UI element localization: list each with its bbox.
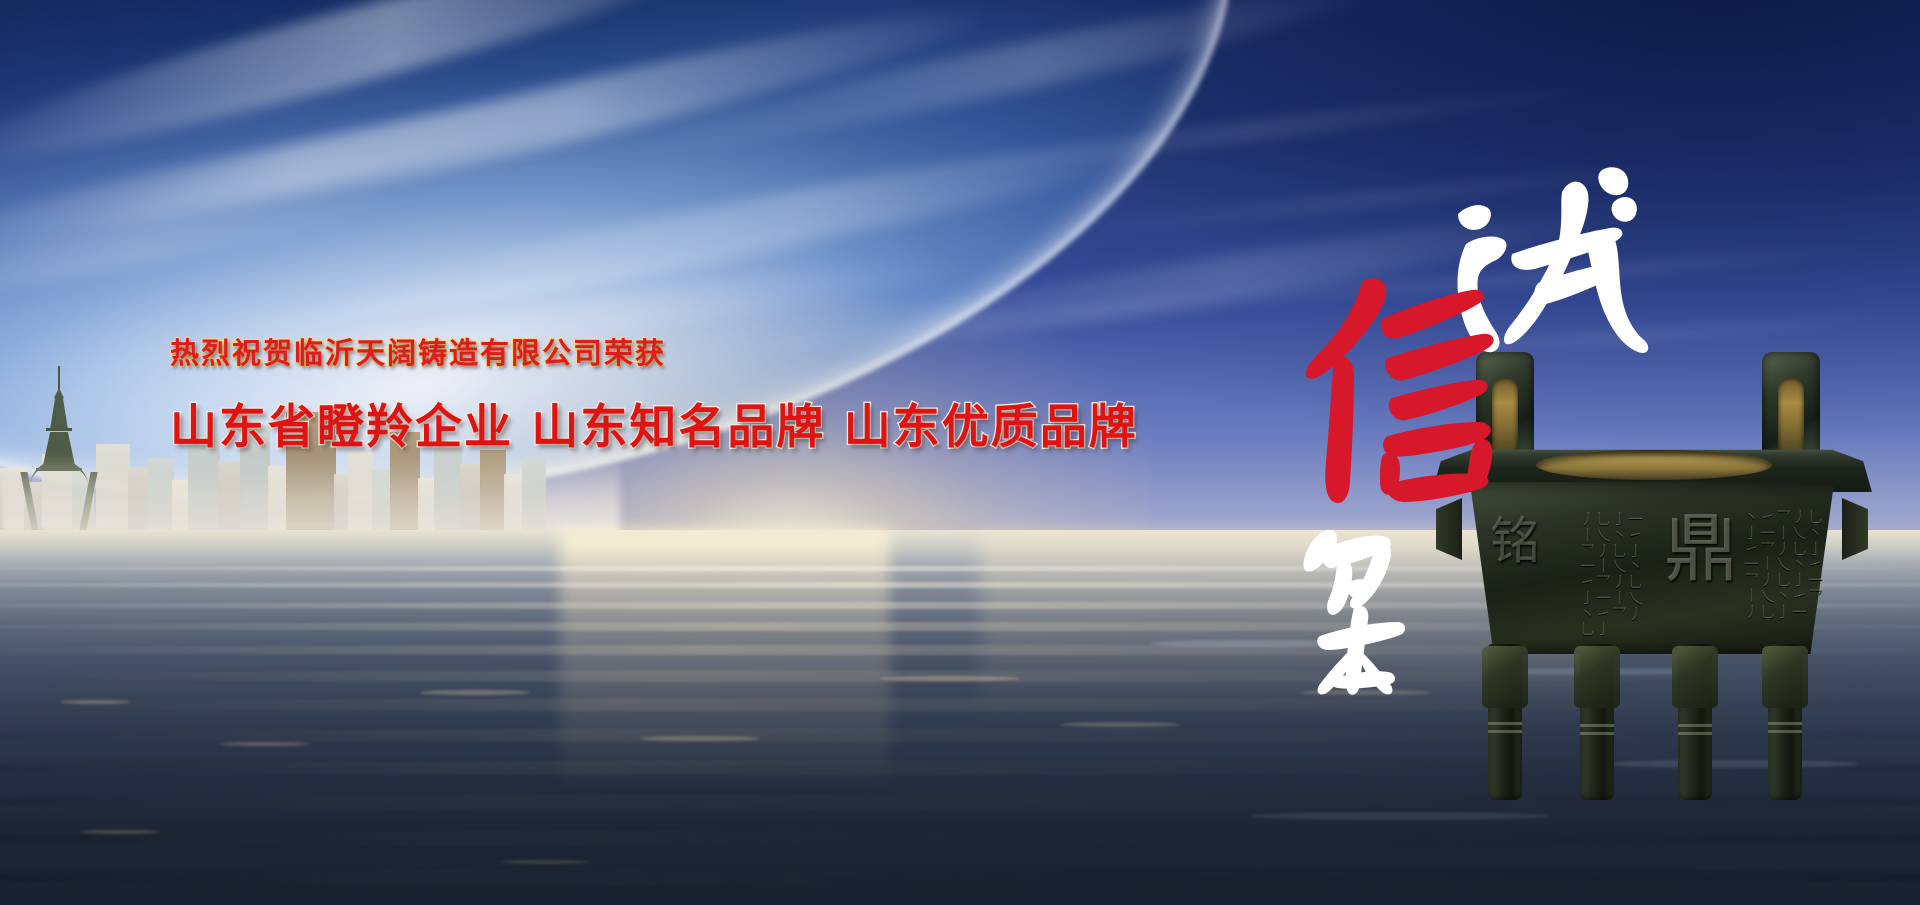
wave-line <box>0 868 1920 886</box>
bronze-ding-vessel: 鼎 铭 丿乚亅一丨乀丶㇀乛丿乚亅一丨乀丶㇀乛丿乚亅一丨乀丶㇀乛丿乚亅 丶㇀乛丿乚… <box>1432 352 1872 800</box>
ding-leg <box>1488 644 1522 800</box>
sun-reflection-path <box>560 530 890 860</box>
wave-line <box>0 830 1920 847</box>
ding-mouth <box>1536 450 1772 480</box>
ding-inscription-main: 鼎 <box>1664 512 1738 586</box>
headline-line-2: 山东省瞪羚企业 山东知名品牌 山东优质品牌 <box>170 388 1070 457</box>
ding-flange <box>1436 498 1462 560</box>
ding-inscription-side: 铭 <box>1490 516 1540 566</box>
headline-line-1: 热烈祝贺临沂天阔铸造有限公司荣获 <box>170 330 1070 372</box>
headline-block: 热烈祝贺临沂天阔铸造有限公司荣获 山东省瞪羚企业 山东知名品牌 山东优质品牌 <box>170 330 1070 457</box>
banner-stage: 鼎 铭 丿乚亅一丨乀丶㇀乛丿乚亅一丨乀丶㇀乛丿乚亅一丨乀丶㇀乛丿乚亅 丶㇀乛丿乚… <box>0 0 1920 905</box>
ding-leg <box>1768 644 1802 800</box>
ding-leg <box>1580 644 1614 800</box>
ding-leg <box>1678 644 1712 800</box>
ding-flange <box>1842 498 1868 560</box>
